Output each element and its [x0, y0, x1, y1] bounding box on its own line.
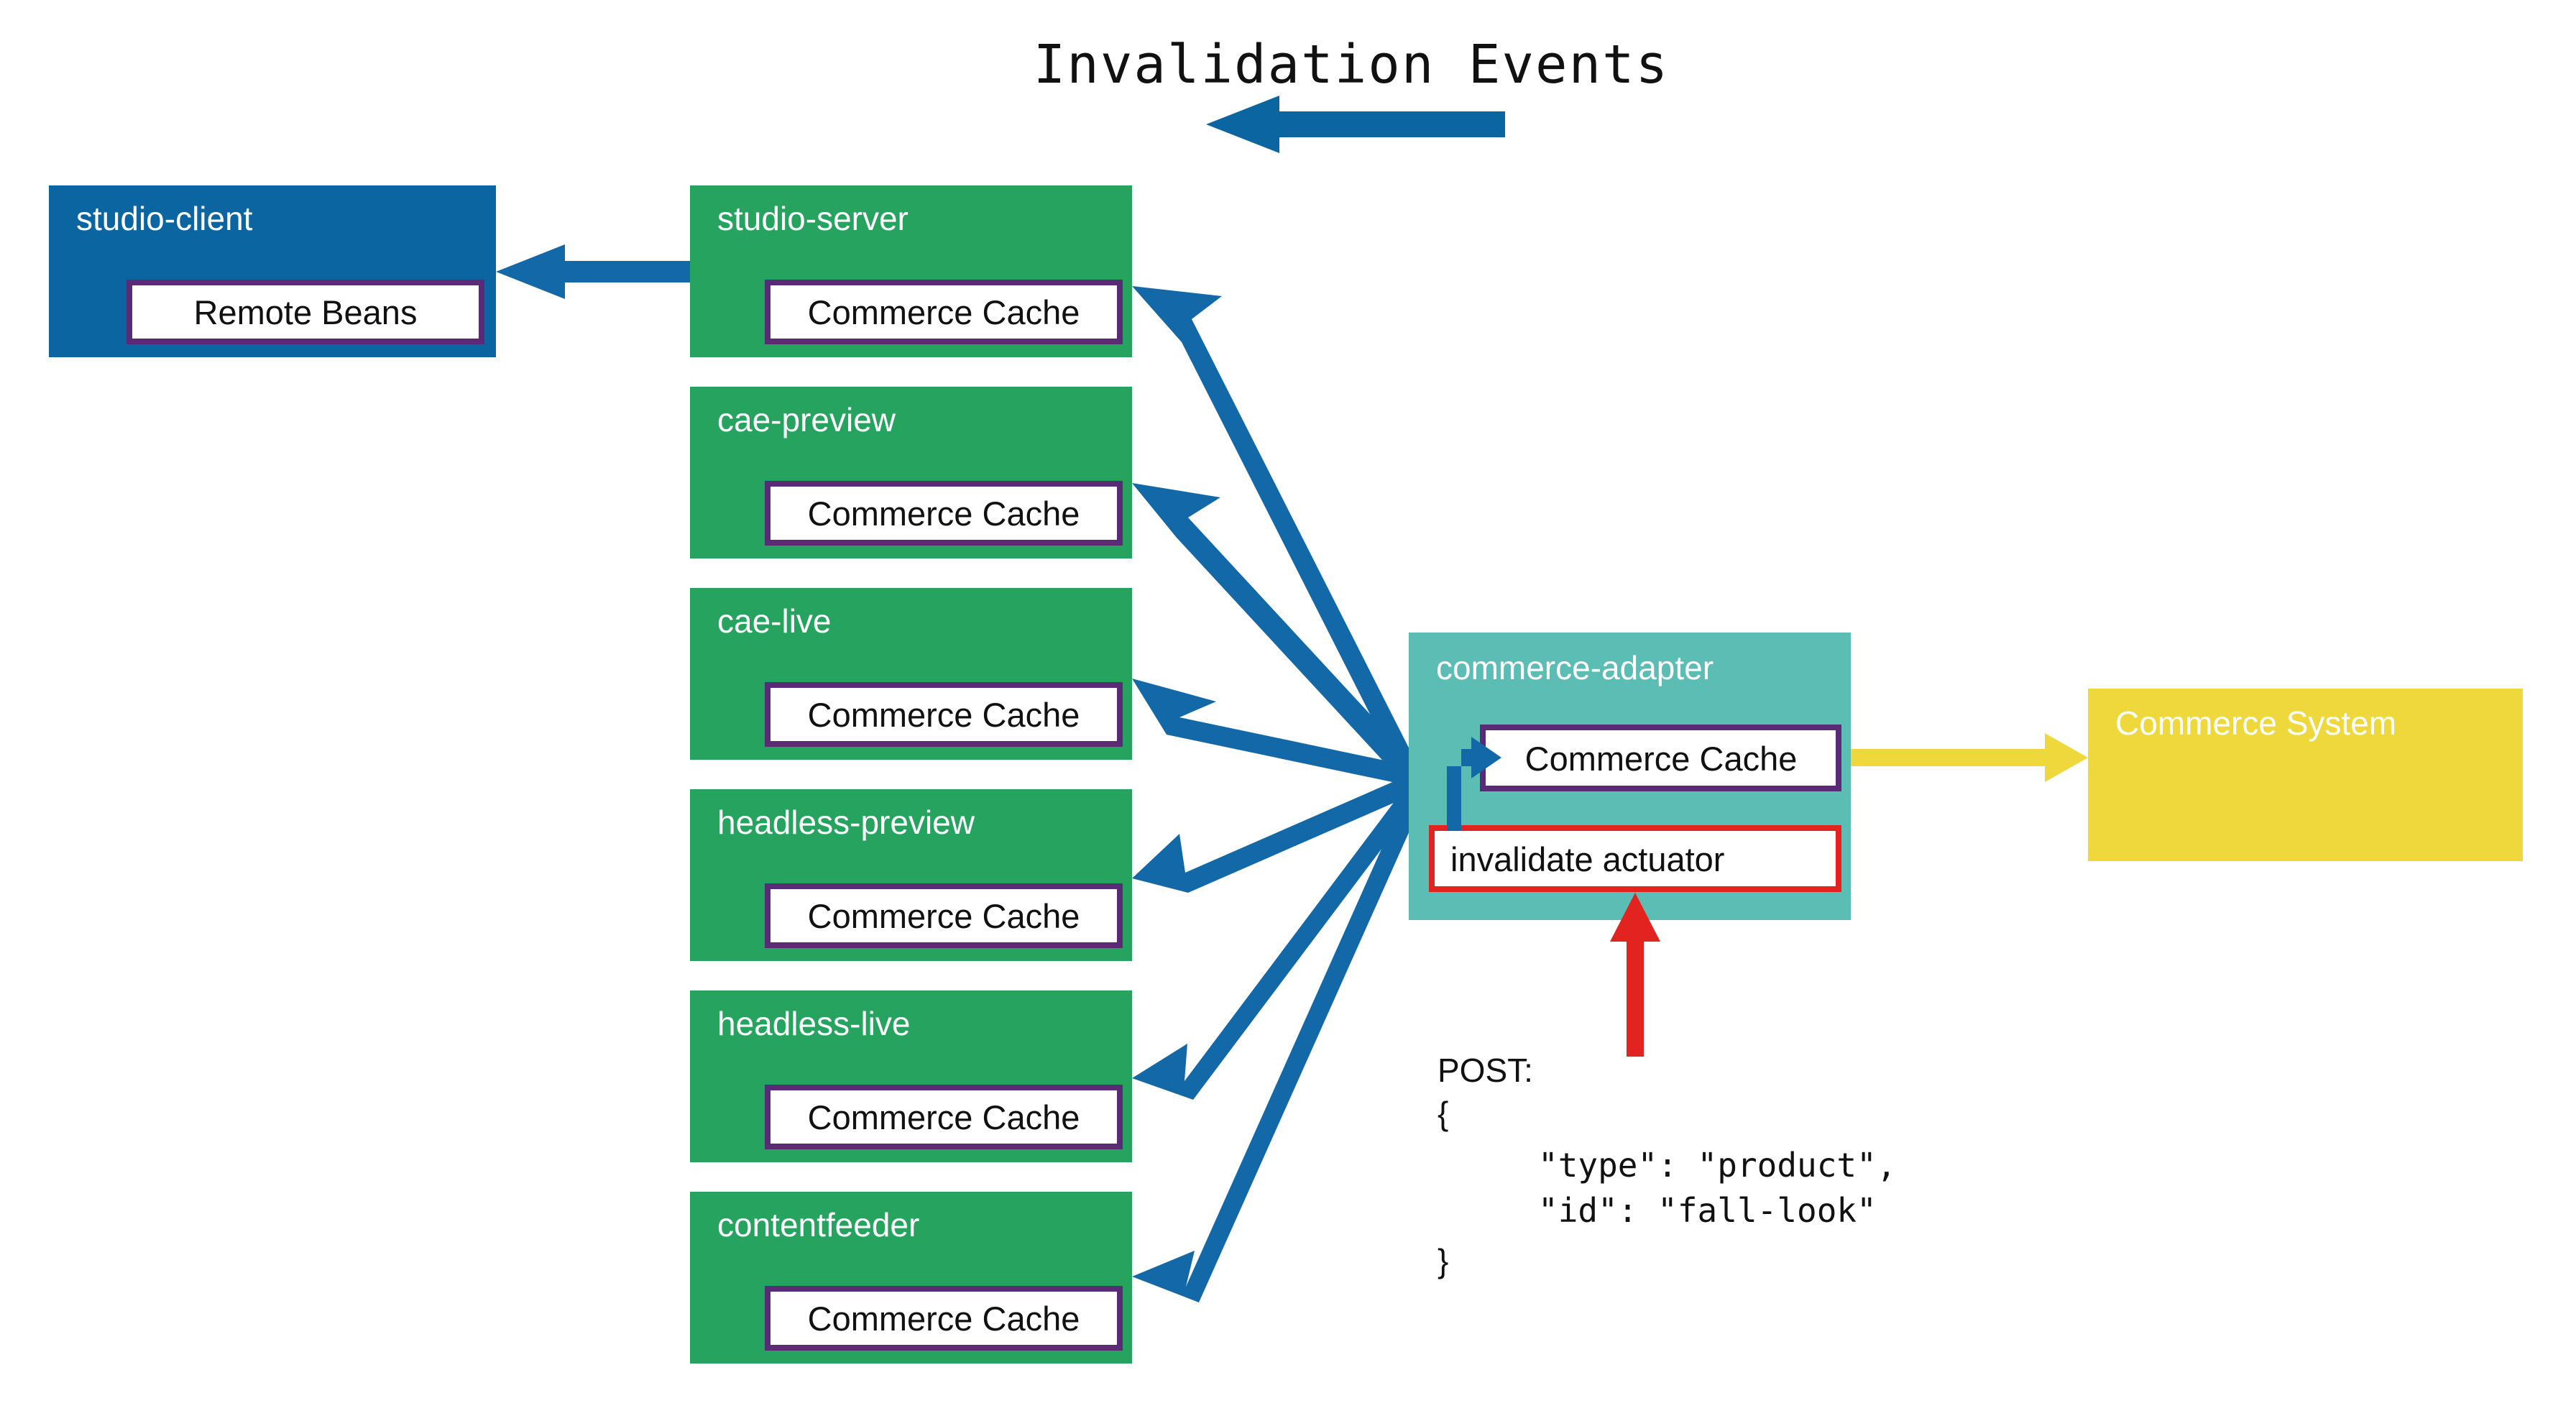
remote-beans-label: Remote Beans: [194, 293, 418, 331]
commerce-adapter-title: commerce-adapter: [1436, 649, 1713, 686]
commerce-adapter-box[interactable]: commerce-adapter Commerce Cache invalida…: [1409, 633, 1851, 920]
service-box-headless-live[interactable]: headless-live Commerce Cache: [690, 990, 1132, 1162]
service-box-headless-preview[interactable]: headless-preview Commerce Cache: [690, 789, 1132, 961]
adapter-commerce-cache-label: Commerce Cache: [1525, 740, 1798, 778]
commerce-cache-label: Commerce Cache: [808, 1300, 1080, 1338]
post-type-line: "type": "product",: [1538, 1146, 1897, 1185]
service-title: cae-live: [717, 602, 832, 640]
invalidation-events-diagram: Invalidation Events studio-client Remote…: [0, 0, 2576, 1416]
service-box-contentfeeder[interactable]: contentfeeder Commerce Cache: [690, 1192, 1132, 1364]
studio-server-to-studio-client-arrow: [496, 244, 690, 299]
commerce-cache-label: Commerce Cache: [808, 696, 1080, 734]
post-id-line: "id": "fall-look": [1538, 1191, 1877, 1230]
adapter-to-commerce-system-arrow: [1851, 733, 2088, 782]
service-title: headless-live: [717, 1005, 910, 1042]
post-open-brace: {: [1437, 1095, 1448, 1132]
service-title: contentfeeder: [717, 1206, 919, 1243]
studio-client-box[interactable]: studio-client Remote Beans: [49, 185, 496, 357]
invalidation-events-arrow: [1206, 96, 1505, 153]
commerce-cache-label: Commerce Cache: [808, 1098, 1080, 1136]
service-box-cae-preview[interactable]: cae-preview Commerce Cache: [690, 387, 1132, 558]
commerce-cache-label: Commerce Cache: [808, 897, 1080, 935]
service-box-cae-live[interactable]: cae-live Commerce Cache: [690, 588, 1132, 760]
service-title: studio-server: [717, 200, 908, 237]
commerce-system-box[interactable]: Commerce System: [2088, 689, 2523, 861]
invalidation-arrow-headless-live: [1132, 772, 1425, 1100]
post-label: POST:: [1437, 1052, 1533, 1089]
post-close-brace: }: [1437, 1242, 1448, 1279]
page-title: Invalidation Events: [1034, 34, 1669, 96]
service-title: cae-preview: [717, 401, 896, 438]
studio-client-title: studio-client: [76, 200, 253, 237]
invalidate-actuator-label: invalidate actuator: [1450, 840, 1724, 878]
service-box-studio-server[interactable]: studio-server Commerce Cache: [690, 185, 1132, 357]
invalidation-arrow-fan: [1132, 286, 1428, 1302]
commerce-cache-label: Commerce Cache: [808, 495, 1080, 533]
commerce-system-title: Commerce System: [2115, 704, 2396, 742]
service-title: headless-preview: [717, 804, 975, 841]
post-payload-block: POST: { "type": "product", "id": "fall-l…: [1437, 1052, 1897, 1279]
commerce-cache-label: Commerce Cache: [808, 293, 1080, 331]
